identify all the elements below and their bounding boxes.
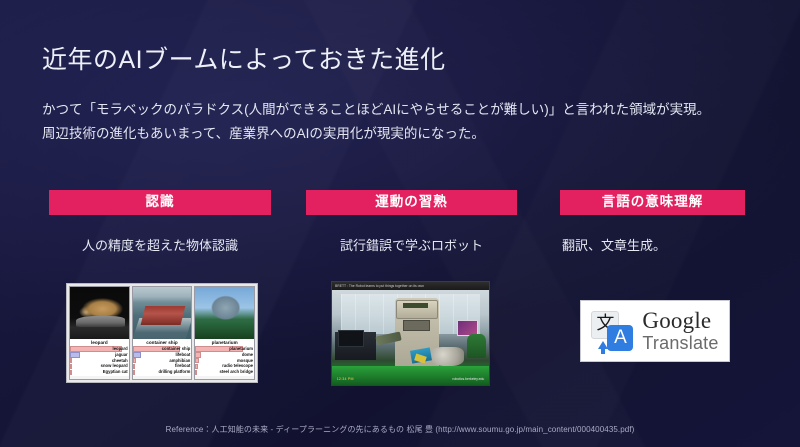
prediction-bar [195, 352, 201, 357]
card-motor-skill: 運動の習熟 試行錯誤で学ぶロボット [306, 190, 517, 254]
prediction-row: drilling platform [133, 370, 192, 375]
video-overlay-left: 12:34 PM [337, 377, 354, 381]
imagenet-prediction-bars: planetarium dome mosque radio telescope [195, 346, 254, 377]
slide: 近年のAIブームによっておきた進化 かつて「モラベックのパラドクス(人間ができる… [0, 0, 800, 447]
prediction-label: leopard [113, 347, 129, 351]
lede-line-2: 周辺技術の進化もあいまって、産業界へのAIの実用化が現実的になった。 [42, 122, 782, 146]
prediction-label: mosque [237, 359, 254, 363]
google-translate-logo: 文 A Google Translate [580, 300, 730, 362]
robot-learning-video-still: BRETT : The Robot learns to put things t… [331, 281, 490, 386]
prediction-label: dome [242, 353, 254, 357]
google-wordmark: Google [642, 309, 718, 333]
card-language-understanding-heading: 言語の意味理解 [560, 190, 745, 215]
prediction-label: Egyptian cat [103, 370, 129, 374]
prediction-row: dome [195, 352, 254, 357]
latin-character-glyph: A [607, 325, 633, 351]
card-recognition: 認識 人の精度を超えた物体認識 [49, 190, 271, 254]
video-overlay-right: robotics.berkeley.edu [452, 377, 484, 381]
robot-scene: 12:34 PM robotics.berkeley.edu [332, 290, 489, 385]
prediction-bar [133, 358, 136, 363]
prediction-bar [195, 364, 197, 369]
prediction-bar [70, 364, 72, 369]
prediction-label: lifeboat [175, 353, 191, 357]
prediction-row: jaguar [70, 352, 129, 357]
slide-content: 近年のAIブームによっておきた進化 かつて「モラベックのパラドクス(人間ができる… [0, 0, 800, 447]
planetarium-photo [195, 287, 254, 339]
robot-sensor-eye [403, 303, 428, 308]
prediction-bar [70, 352, 80, 357]
translate-wordmark: Translate [642, 334, 718, 353]
lab-plant [467, 334, 486, 359]
prediction-bar [133, 370, 135, 375]
green-table [332, 366, 489, 385]
video-titlebar: BRETT : The Robot learns to put things t… [332, 282, 489, 290]
imagenet-column-planetarium: planetarium planetarium dome mosque [194, 286, 255, 380]
lede-line-1: かつて「モラベックのパラドクス(人間ができることほどAIにやらせることが難しい)… [42, 98, 782, 122]
prediction-bar [70, 370, 72, 375]
google-translate-wordmark: Google Translate [642, 309, 718, 353]
page-title: 近年のAIブームによっておきた進化 [42, 40, 446, 76]
leopard-photo [70, 287, 129, 339]
prediction-label: jaguar [115, 353, 129, 357]
prediction-label: planetarium [229, 347, 254, 351]
prediction-label: radio telescope [222, 364, 254, 368]
imagenet-column-container-ship: container ship container ship lifeboat a… [132, 286, 193, 380]
prediction-bar [195, 358, 199, 363]
prediction-bar [133, 352, 141, 357]
container-ship-photo [133, 287, 192, 339]
imagenet-prediction-bars: leopard jaguar cheetah snow leopard [70, 346, 129, 377]
imagenet-column-leopard: leopard leopard jaguar cheetah [69, 286, 130, 380]
card-recognition-heading: 認識 [49, 190, 271, 215]
lab-monitor [338, 330, 364, 347]
prediction-label: cheetah [112, 359, 129, 363]
prediction-label: amphibian [169, 359, 191, 363]
card-motor-skill-heading: 運動の習熟 [306, 190, 517, 215]
card-language-understanding-caption: 翻訳、文章生成。 [560, 235, 745, 254]
prediction-label: drilling platform [158, 370, 191, 374]
prediction-row: steel arch bridge [195, 370, 254, 375]
card-recognition-caption: 人の精度を超えた物体認識 [49, 235, 271, 254]
prediction-label: container ship [162, 347, 192, 351]
prediction-label: steel arch bridge [220, 370, 255, 374]
toy-object-gray [429, 347, 464, 366]
card-language-understanding: 言語の意味理解 翻訳、文章生成。 [560, 190, 745, 254]
prediction-label: snow leopard [101, 364, 129, 368]
translate-icon: 文 A [591, 311, 633, 351]
lede-paragraph: かつて「モラベックのパラドクス(人間ができることほどAIにやらせることが難しい)… [42, 98, 782, 146]
imagenet-prediction-bars: container ship lifeboat amphibian firebo… [133, 346, 192, 377]
reference-footer: Reference：人工知能の未来 - ディープラーニングの先にあるもの 松尾 … [0, 424, 800, 435]
prediction-bar [133, 364, 135, 369]
prediction-row: Egyptian cat [70, 370, 129, 375]
prediction-bar [195, 370, 197, 375]
prediction-row: lifeboat [133, 352, 192, 357]
imagenet-classification-figure: leopard leopard jaguar cheetah [66, 283, 258, 383]
card-motor-skill-caption: 試行錯誤で学ぶロボット [306, 235, 517, 254]
robot-torso-panel [403, 320, 430, 331]
prediction-bar [70, 358, 72, 363]
prediction-label: fireboat [175, 364, 191, 368]
